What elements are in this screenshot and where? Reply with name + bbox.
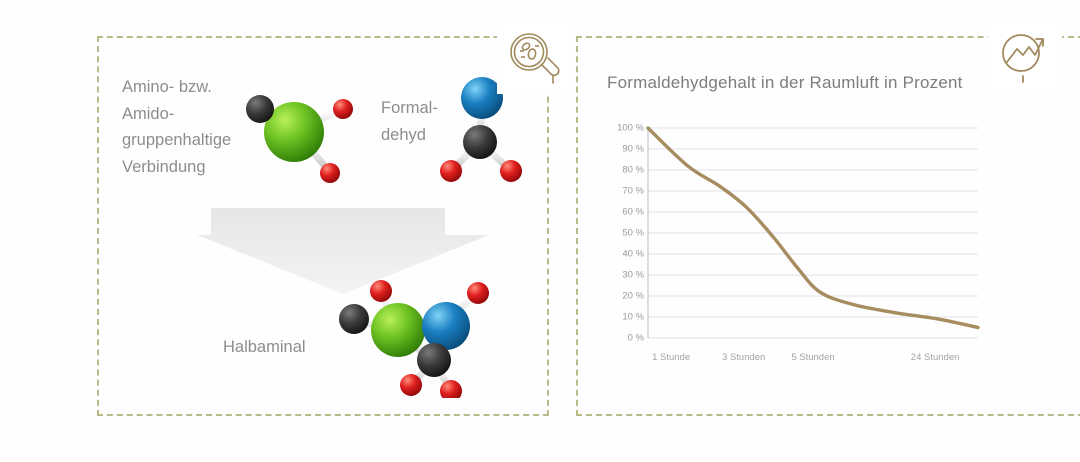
trend-chart-icon [997,29,1053,85]
x-axis-labels: 1 Stunde3 Stunden5 Stunden24 Stunden [600,120,1000,380]
trend-icon-wrap [988,20,1062,94]
amino-compound-molecule [232,80,362,190]
chart-title: Formaldehydgehalt in der Raumluft in Pro… [607,73,963,93]
magnifier-icon-wrap [497,20,571,94]
x-axis-tick: 5 Stunden [791,352,834,363]
hemiaminal-molecule [326,272,510,398]
chart-plot-region: 100 %90 %80 %70 %60 %50 %40 %30 %20 %10 … [600,120,1000,380]
x-axis-tick: 24 Stunden [911,352,960,363]
x-axis-tick: 1 Stunde [652,352,690,363]
magnifier-microbe-icon [506,29,562,85]
label-halbaminal: Halbaminal [223,338,306,357]
x-axis-tick: 3 Stunden [722,352,765,363]
